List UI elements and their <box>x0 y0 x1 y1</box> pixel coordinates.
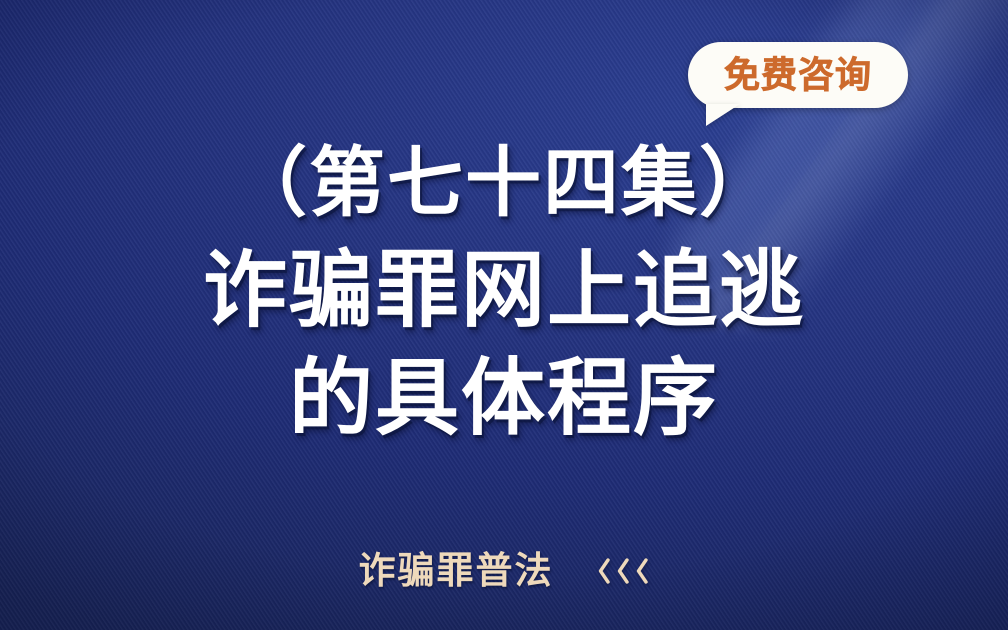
footer-tagline-label: 诈骗罪普法 <box>359 552 554 589</box>
page-title: （第七十四集） 诈骗罪网上追逃 的具体程序 <box>0 146 1008 440</box>
chevron-left-icon-group <box>596 557 650 585</box>
speech-bubble-tail-icon <box>706 104 740 126</box>
free-consultation-badge[interactable]: 免费咨询 <box>688 42 908 108</box>
title-line-episode: （第七十四集） <box>0 146 1008 222</box>
video-cover-canvas: 免费咨询 （第七十四集） 诈骗罪网上追逃 的具体程序 诈骗罪普法 <box>0 0 1008 630</box>
footer-tagline-row: 诈骗罪普法 <box>0 552 1008 589</box>
chevron-left-icon <box>615 557 631 585</box>
free-consultation-badge-label: 免费咨询 <box>724 57 872 93</box>
title-line-subtopic: 的具体程序 <box>0 356 1008 440</box>
title-line-topic: 诈骗罪网上追逃 <box>0 248 1008 332</box>
chevron-left-icon <box>634 557 650 585</box>
chevron-left-icon <box>596 557 612 585</box>
